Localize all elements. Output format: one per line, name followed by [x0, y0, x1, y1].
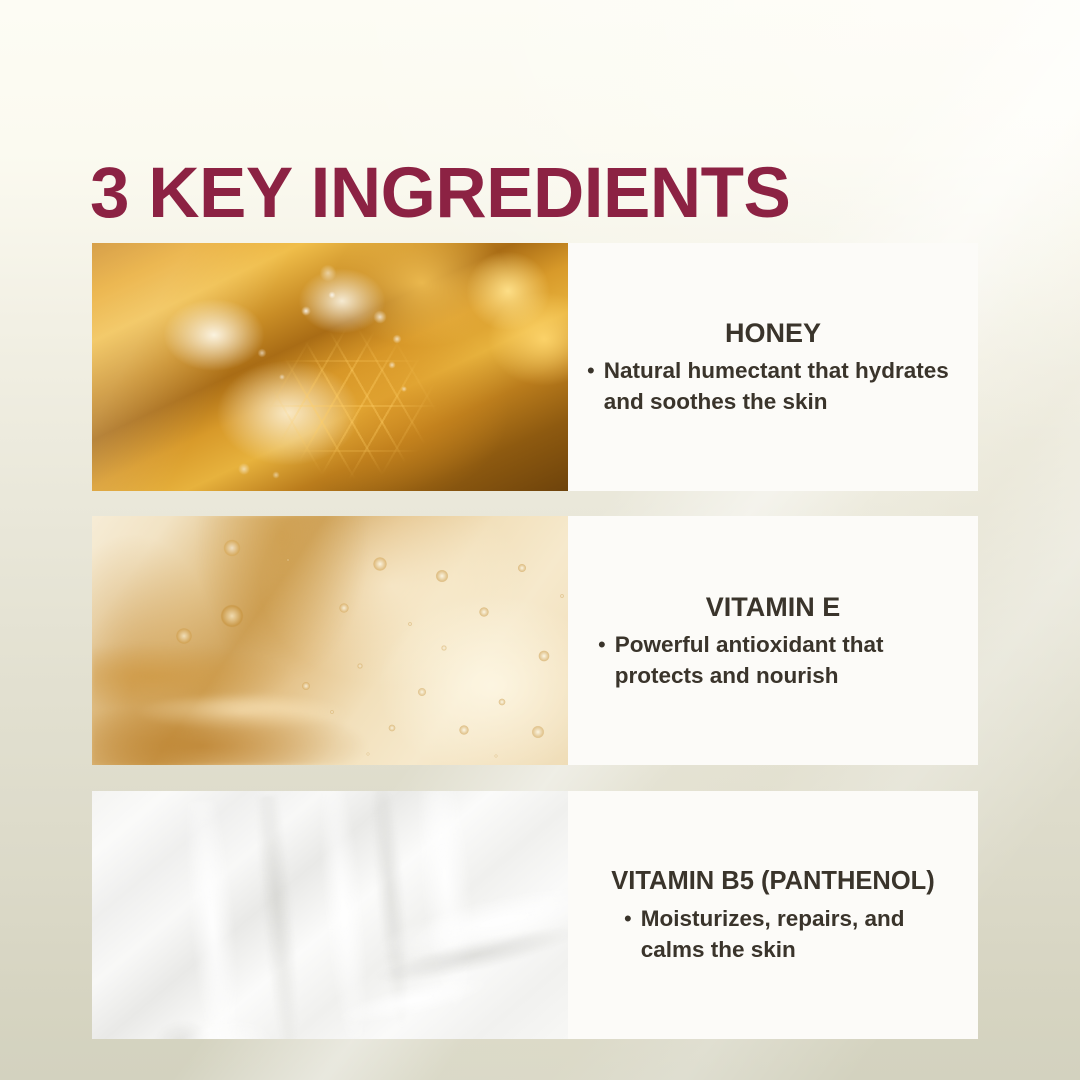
ingredient-card-honey-text: HONEY • Natural humectant that hydrates … [568, 243, 978, 491]
bullet-dot-icon: • [598, 629, 606, 660]
golden-oil-bubbles-photo [92, 516, 568, 765]
page-title: 3 KEY INGREDIENTS [90, 152, 790, 236]
honeycomb-photo [92, 243, 568, 491]
ingredients-poster: 3 KEY INGREDIENTS HONEY • Natural humect… [0, 0, 1080, 1080]
ingredient-bullet-vitamin-e: • Powerful antioxidant that protects and… [582, 629, 964, 691]
ingredient-description-vitamin-b5: Moisturizes, repairs, and calms the skin [641, 903, 964, 965]
ingredient-name-vitamin-e: VITAMIN E [582, 591, 964, 623]
ingredient-description-vitamin-e: Powerful antioxidant that protects and n… [615, 629, 964, 691]
ingredient-card-vitamin-b5: VITAMIN B5 (PANTHENOL) • Moisturizes, re… [92, 791, 978, 1039]
ingredient-card-vitamin-e: VITAMIN E • Powerful antioxidant that pr… [92, 516, 978, 765]
ingredient-card-vitamin-b5-text: VITAMIN B5 (PANTHENOL) • Moisturizes, re… [568, 791, 978, 1039]
ingredient-bullet-honey: • Natural humectant that hydrates and so… [582, 355, 964, 417]
white-cream-swirl-photo [92, 791, 568, 1039]
ingredient-name-honey: HONEY [582, 317, 964, 349]
ingredient-description-honey: Natural humectant that hydrates and soot… [604, 355, 964, 417]
bullet-dot-icon: • [587, 355, 595, 386]
ingredient-bullet-vitamin-b5: • Moisturizes, repairs, and calms the sk… [582, 903, 964, 965]
bullet-dot-icon: • [624, 903, 632, 934]
ingredient-card-honey: HONEY • Natural humectant that hydrates … [92, 243, 978, 491]
ingredient-name-vitamin-b5: VITAMIN B5 (PANTHENOL) [582, 865, 964, 897]
ingredient-card-vitamin-e-text: VITAMIN E • Powerful antioxidant that pr… [568, 516, 978, 765]
